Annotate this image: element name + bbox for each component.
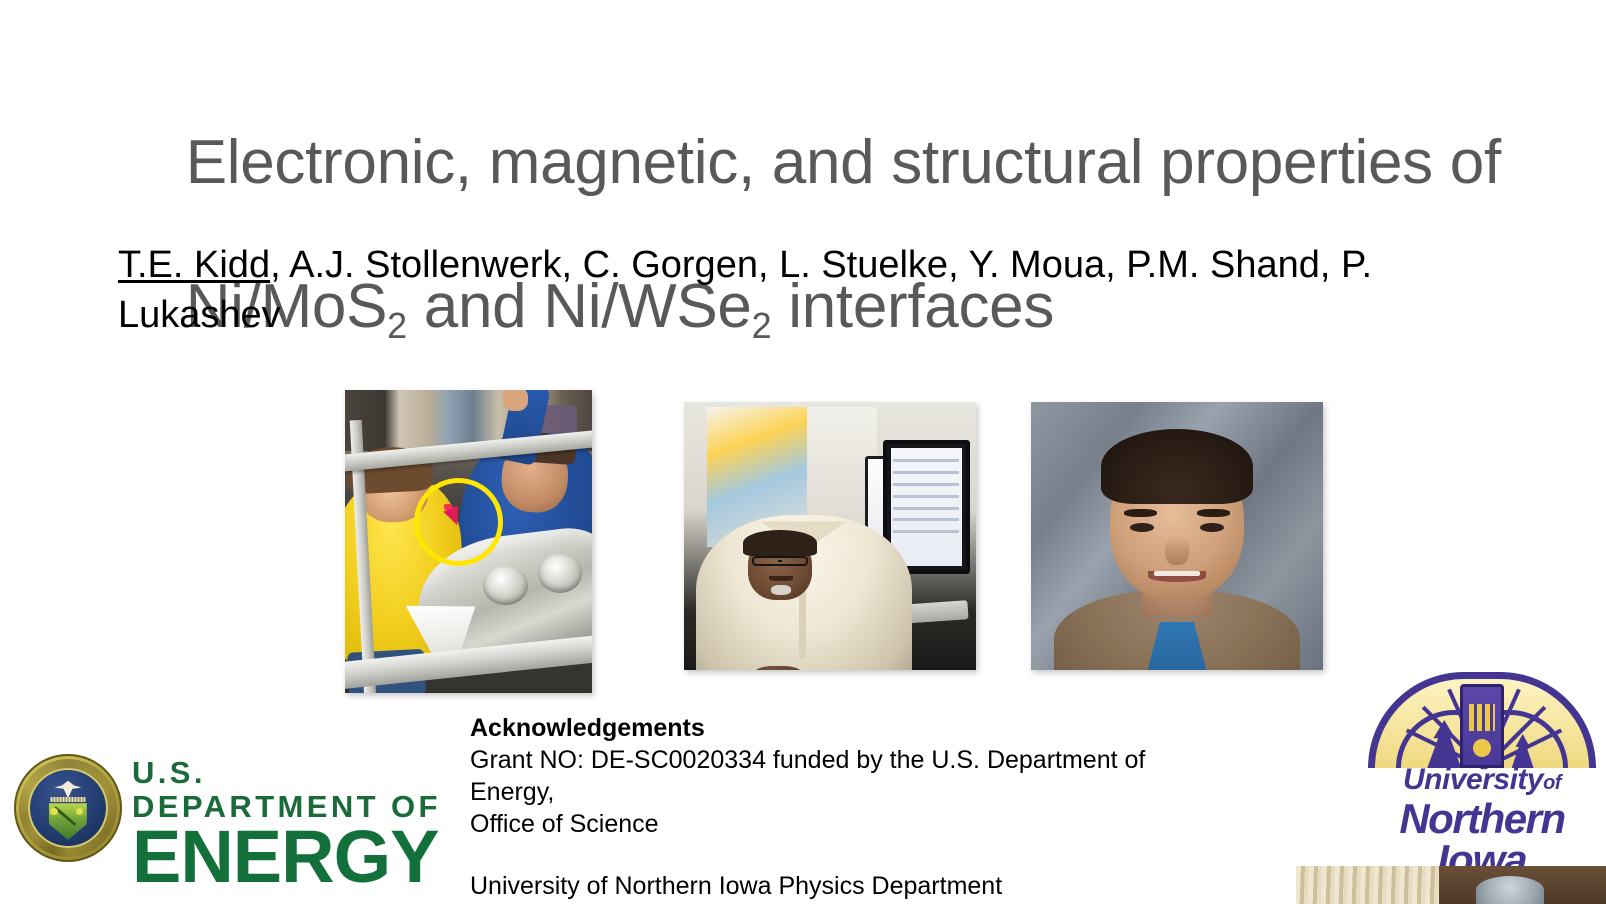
title-slide: Electronic, magnetic, and structural pro… xyxy=(0,0,1606,904)
uni-arch-icon xyxy=(1368,672,1596,768)
uni-logo: Universityof Northern Iowa xyxy=(1358,672,1606,882)
portrait-shand xyxy=(684,402,976,670)
shand-body xyxy=(696,515,912,670)
uni-bell-tower-icon xyxy=(1460,684,1504,768)
partial-image-figure xyxy=(1476,876,1544,904)
author-lead: T.E. Kidd xyxy=(118,244,270,286)
doe-seal-bar xyxy=(50,797,85,803)
shand-hair xyxy=(743,530,816,556)
uni-word-2: Northern xyxy=(1358,799,1606,839)
department-line: University of Northern Iowa Physics Depa… xyxy=(470,870,1230,902)
uni-tower-clock-icon xyxy=(1473,739,1491,757)
lukashev-nose xyxy=(1165,536,1188,565)
doe-seal-icon xyxy=(14,754,122,862)
lab-photo-scene xyxy=(345,390,592,693)
grant-line-2: Office of Science xyxy=(470,808,1230,840)
lukashev-brow-right xyxy=(1197,509,1229,517)
doe-logo: U.S. DEPARTMENT OF ENERGY xyxy=(8,748,458,868)
page-title: Electronic, magnetic, and structural pro… xyxy=(118,55,1518,423)
acknowledgements-heading: Acknowledgements xyxy=(470,712,1230,744)
doe-wordmark: U.S. DEPARTMENT OF ENERGY xyxy=(132,756,458,892)
shand-photo-scene xyxy=(684,402,976,670)
uni-wordmark: Universityof Northern Iowa xyxy=(1358,764,1606,881)
acknowledgements-block: Acknowledgements Grant NO: DE-SC0020334 … xyxy=(470,712,1230,902)
acknowledgements-spacer xyxy=(470,840,1230,870)
lukashev-brow-left xyxy=(1124,509,1156,517)
chamber-flange-1 xyxy=(483,566,527,605)
lukashev-photo-scene xyxy=(1031,402,1323,670)
eagle-icon xyxy=(54,781,81,799)
partial-image-left xyxy=(1296,866,1439,904)
title-line-1: Electronic, magnetic, and structural pro… xyxy=(186,128,1501,197)
doe-line-1: U.S. DEPARTMENT OF xyxy=(132,756,458,824)
grant-line-1: Grant NO: DE-SC0020334 funded by the U.S… xyxy=(470,744,1230,808)
lukashev-eye-left xyxy=(1130,523,1153,532)
partial-bottom-image xyxy=(1296,866,1606,904)
researcher-hand xyxy=(503,390,528,411)
doe-seal-inner xyxy=(28,768,108,848)
lukashev-teeth xyxy=(1154,571,1201,576)
doe-line-2: ENERGY xyxy=(132,822,458,892)
lukashev-hair xyxy=(1101,429,1253,504)
uni-word-1: Universityof xyxy=(1358,764,1606,799)
eyeglasses xyxy=(752,556,808,566)
portrait-lukashev xyxy=(1031,402,1323,670)
monitor-screen xyxy=(891,448,963,566)
shand-hands xyxy=(752,666,804,671)
shand-goatee xyxy=(771,585,790,595)
author-rest: , A.J. Stollenwerk, C. Gorgen, L. Stuelk… xyxy=(118,244,1372,336)
uni-tower-windows xyxy=(1469,704,1495,731)
author-list: T.E. Kidd, A.J. Stollenwerk, C. Gorgen, … xyxy=(118,240,1478,340)
chamber-flange-2 xyxy=(538,554,582,593)
lukashev-eye-right xyxy=(1200,523,1223,532)
lab-photo xyxy=(345,390,592,693)
doe-shield-dot-left xyxy=(50,808,57,815)
